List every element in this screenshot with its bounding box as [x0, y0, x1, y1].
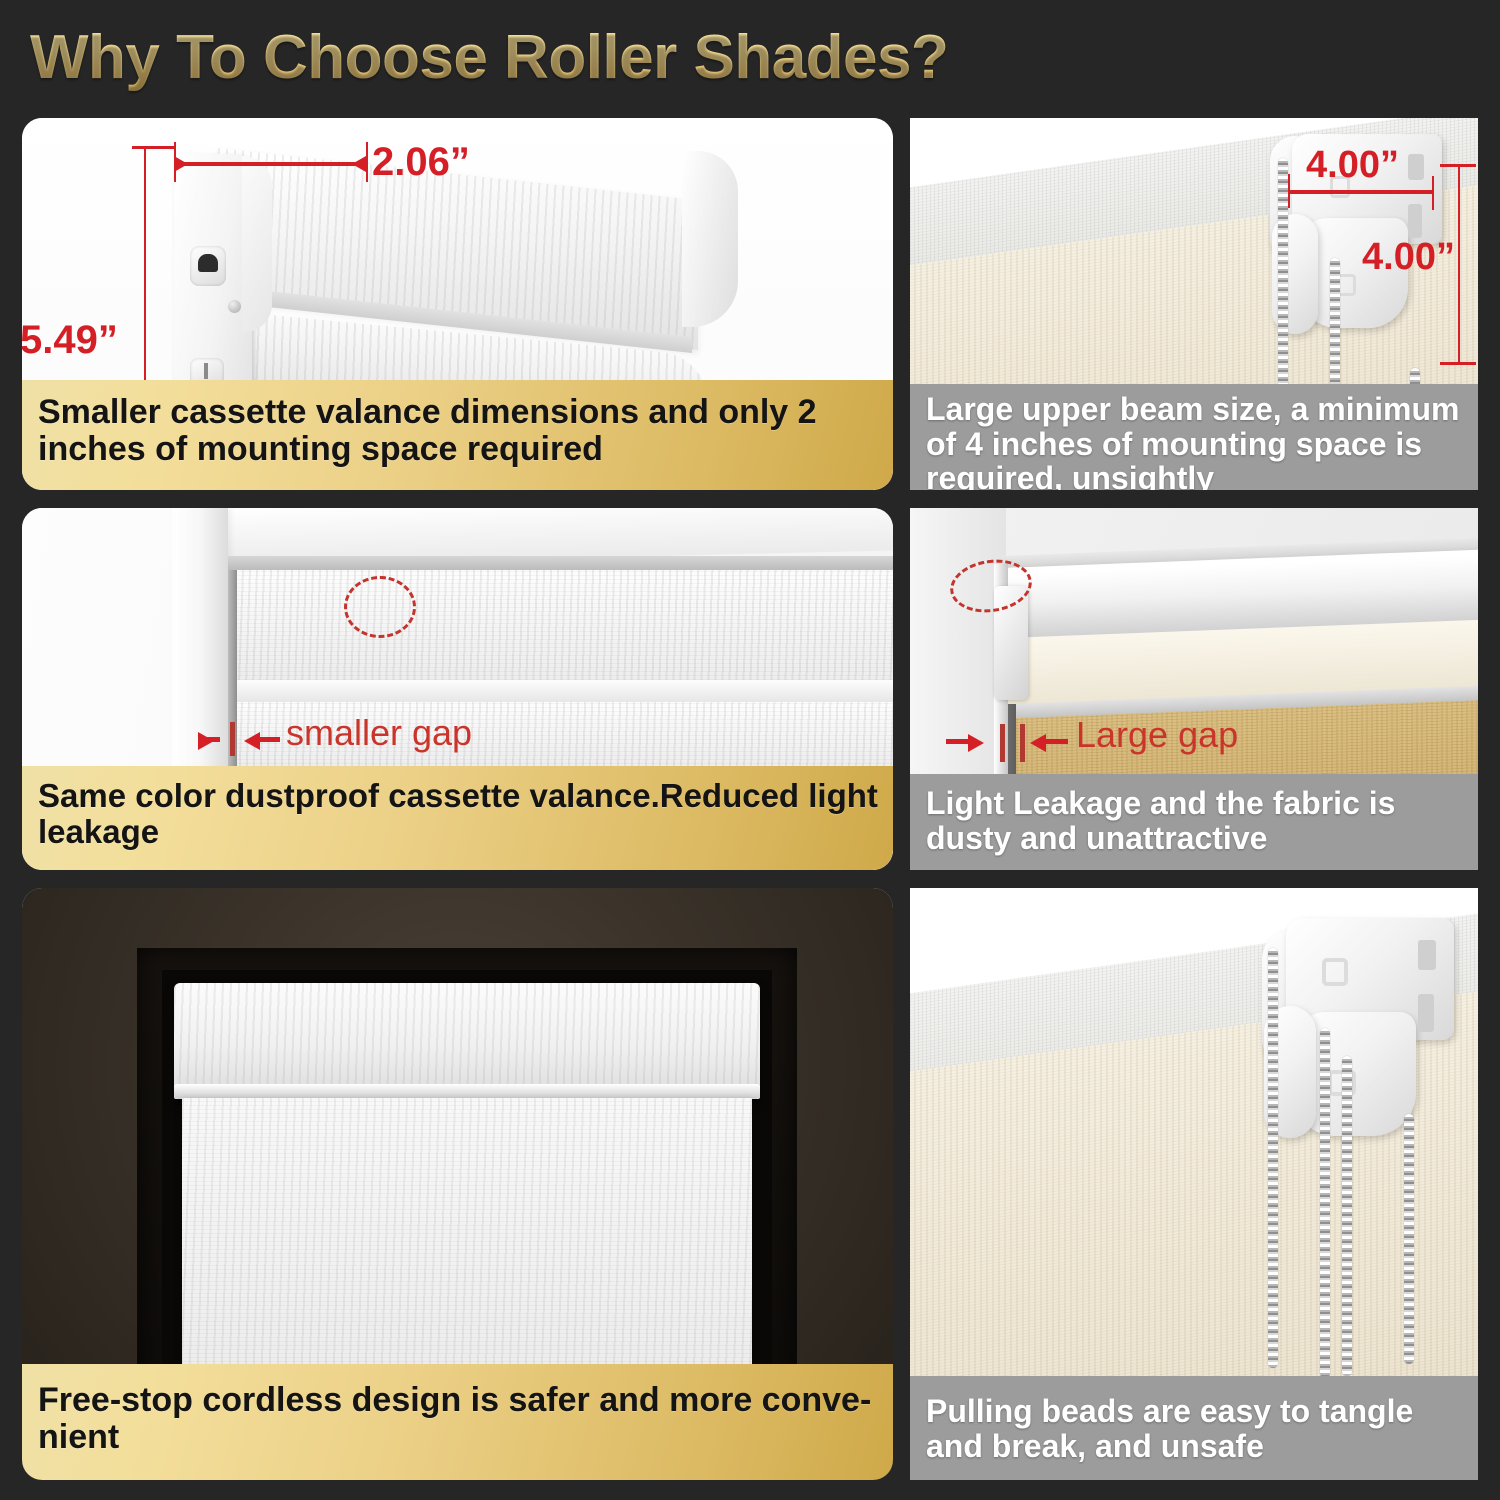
panel-4-caption: Light Leakage and the fabric is dusty an… [910, 774, 1478, 870]
panel-3-dustproof-valance: smaller gap Same color dustproof cassett… [22, 508, 893, 870]
panel-3-caption: Same color dustproof cassette valance.Re… [22, 766, 893, 870]
panel-6-caption: Pulling beads are easy to tangle and bre… [910, 1376, 1478, 1480]
screw-icon [228, 300, 241, 313]
panel-2-caption: Large upper beam size, a minimum of 4 in… [910, 384, 1478, 490]
dimension-label-height: 5.49” [22, 318, 118, 363]
panel-5-cordless-design: Free-stop cordless design is safer and m… [22, 888, 893, 1480]
panel-2-large-upper-beam: 4.00” 4.00” Large upper beam size, a min… [910, 118, 1478, 490]
panel-6-pulling-beads: Pulling beads are easy to tangle and bre… [910, 888, 1478, 1480]
gap-callout-smaller: smaller gap [286, 712, 472, 754]
panel-4-light-leakage: Large gap Light Leakage and the fabric i… [910, 508, 1478, 870]
bead-chain [1268, 948, 1278, 1368]
panel-5-caption: Free-stop cordless design is safer and m… [22, 1364, 893, 1480]
gap-callout-large: Large gap [1076, 714, 1238, 756]
dimension-label-beam-height: 4.00” [1362, 236, 1455, 279]
comparison-grid: 2.06” 5.49” Smaller cassette valance dim… [0, 0, 1500, 1500]
panel-1-caption: Smaller cassette valance dimensions and … [22, 380, 893, 490]
bead-chain [1404, 1114, 1414, 1364]
valance-slot-icon [190, 246, 226, 286]
dimension-label-width: 2.06” [372, 140, 470, 185]
panel-1-smaller-cassette: 2.06” 5.49” Smaller cassette valance dim… [22, 118, 893, 490]
detail-highlight-circle [344, 576, 416, 638]
dimension-label-beam-width: 4.00” [1306, 144, 1399, 187]
bead-chain [1342, 1056, 1352, 1376]
bead-chain [1320, 1028, 1330, 1378]
